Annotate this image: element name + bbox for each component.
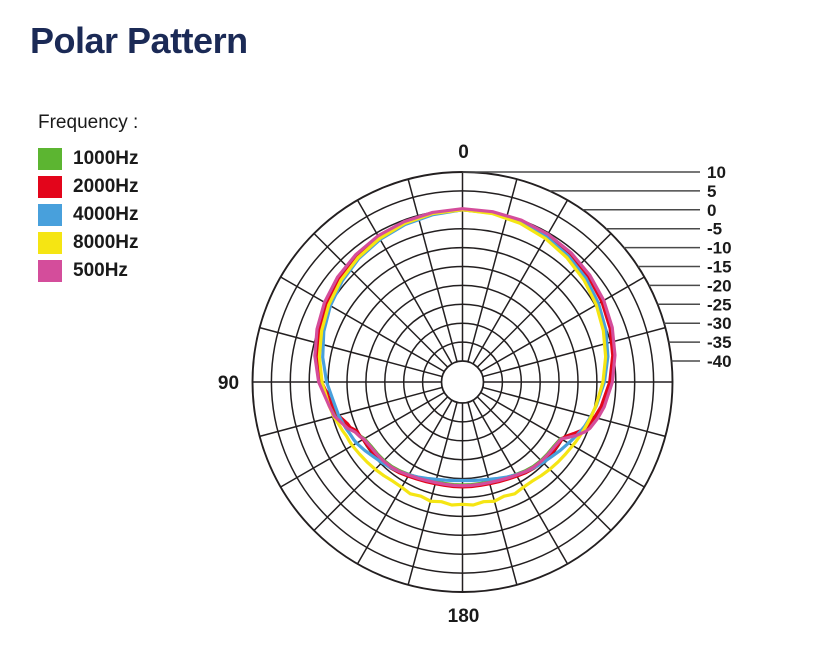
legend-item-8000hz: 8000Hz: [38, 232, 139, 254]
series-curve-500hz: [315, 209, 615, 486]
angle-label-180: 180: [448, 606, 480, 627]
legend-swatch-2000hz: [38, 176, 62, 198]
radial-tick-label: -10: [707, 239, 732, 258]
angle-axis-labels: 090180: [218, 142, 479, 627]
radial-tick-label: -20: [707, 276, 732, 295]
series-curve-8000hz: [319, 210, 605, 505]
radial-tick-label: 10: [707, 163, 726, 182]
legend-heading: Frequency :: [38, 112, 139, 134]
series-curve-1000hz: [316, 210, 614, 485]
series-curve-4000hz: [323, 210, 608, 481]
radial-tick-label: -30: [707, 314, 732, 333]
legend-label-1000hz: 1000Hz: [73, 148, 139, 170]
radial-tick-label: -15: [707, 258, 732, 277]
radial-tick-label: -25: [707, 295, 732, 314]
radial-tick-label: 5: [707, 182, 716, 201]
legend-swatch-500hz: [38, 260, 62, 282]
angle-label-90: 90: [218, 373, 239, 394]
polar-chart: 1050-5-10-15-20-25-30-35-40 090180: [0, 0, 835, 646]
legend-item-4000hz: 4000Hz: [38, 204, 139, 226]
legend-item-2000hz: 2000Hz: [38, 176, 139, 198]
radial-tick-label: -40: [707, 352, 732, 371]
angle-label-0: 0: [458, 142, 469, 163]
page-title: Polar Pattern: [30, 20, 248, 62]
legend-swatch-8000hz: [38, 232, 62, 254]
radial-axis-ticks: 1050-5-10-15-20-25-30-35-40: [463, 163, 732, 371]
legend-item-500hz: 500Hz: [38, 260, 139, 282]
legend-swatch-1000hz: [38, 148, 62, 170]
legend-label-4000hz: 4000Hz: [73, 204, 139, 226]
legend-label-8000hz: 8000Hz: [73, 232, 139, 254]
series-curve-2000hz: [317, 210, 612, 487]
legend-label-500hz: 500Hz: [73, 260, 128, 282]
legend-label-2000hz: 2000Hz: [73, 176, 139, 198]
radial-tick-label: -5: [707, 220, 722, 239]
polar-series-layer: [315, 209, 615, 505]
radial-tick-label: 0: [707, 201, 716, 220]
legend-item-1000hz: 1000Hz: [38, 148, 139, 170]
legend: Frequency : 1000Hz 2000Hz 4000Hz 8000Hz …: [38, 112, 139, 288]
polar-grid: [253, 172, 673, 592]
radial-tick-label: -35: [707, 333, 732, 352]
legend-swatch-4000hz: [38, 204, 62, 226]
